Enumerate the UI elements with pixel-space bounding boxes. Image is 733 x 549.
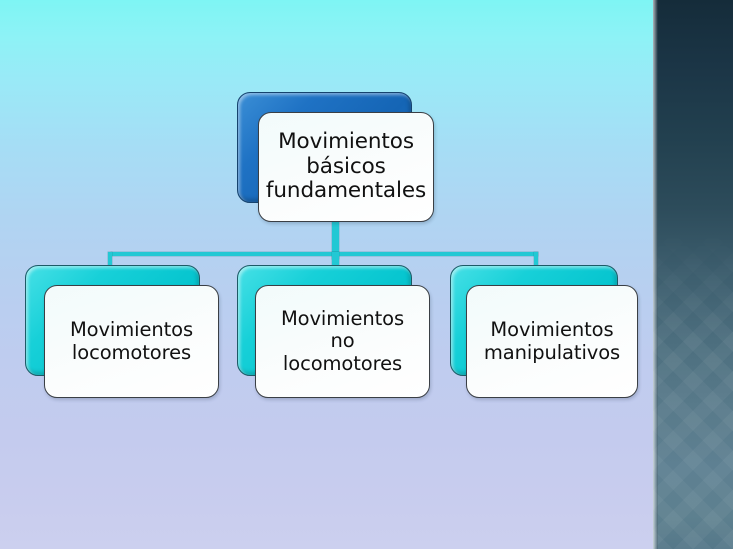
slide-canvas: Movimientos básicos fundamentales Movimi… <box>0 0 733 549</box>
node-root-card[interactable]: Movimientos básicos fundamentales <box>258 112 434 222</box>
node-child-2-card[interactable]: Movimientos no locomotores <box>255 285 430 398</box>
node-child-1-label: Movimientos locomotores <box>64 319 199 363</box>
connector-horizontal-bar <box>111 252 538 256</box>
node-root-label: Movimientos básicos fundamentales <box>260 130 432 204</box>
node-child-1-card[interactable]: Movimientos locomotores <box>44 285 219 398</box>
slide-sidebar-decoration <box>653 0 733 549</box>
sidebar-edge-highlight <box>653 0 658 549</box>
node-child-2-label: Movimientos no locomotores <box>275 308 410 375</box>
node-child-3-label: Movimientos manipulativos <box>478 319 626 363</box>
sidebar-diamond-pattern <box>653 0 733 549</box>
node-child-3-card[interactable]: Movimientos manipulativos <box>466 285 638 398</box>
